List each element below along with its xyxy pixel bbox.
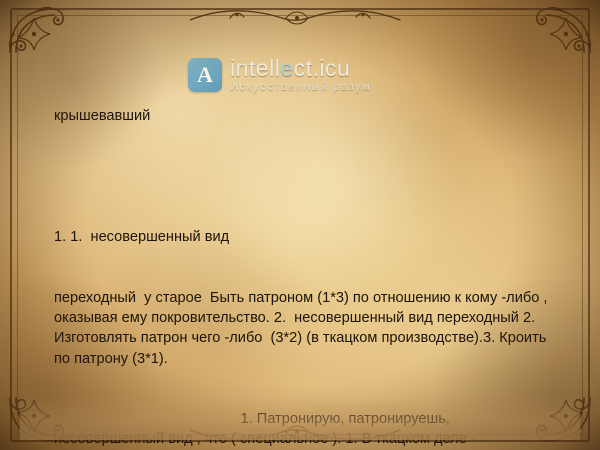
definition-block-1: 1. 1. несовершенный вид [54, 227, 554, 247]
corner-ornament-top-left [6, 4, 70, 56]
definition-block-2: переходный у старое Быть патроном (1*3) … [54, 288, 554, 369]
definition-block-3: 1. Патронирую, патронируешь, несовершенн… [54, 409, 554, 450]
document-page: A intellect.icu Искусственный разум крыш… [0, 0, 600, 450]
text-spacer [54, 167, 554, 187]
corner-ornament-top-right [530, 4, 594, 56]
edge-ornament-top [190, 4, 410, 35]
dictionary-headword: крышевавший [54, 106, 554, 126]
document-text: крышевавший 1. 1. несовершенный вид пере… [54, 66, 554, 450]
